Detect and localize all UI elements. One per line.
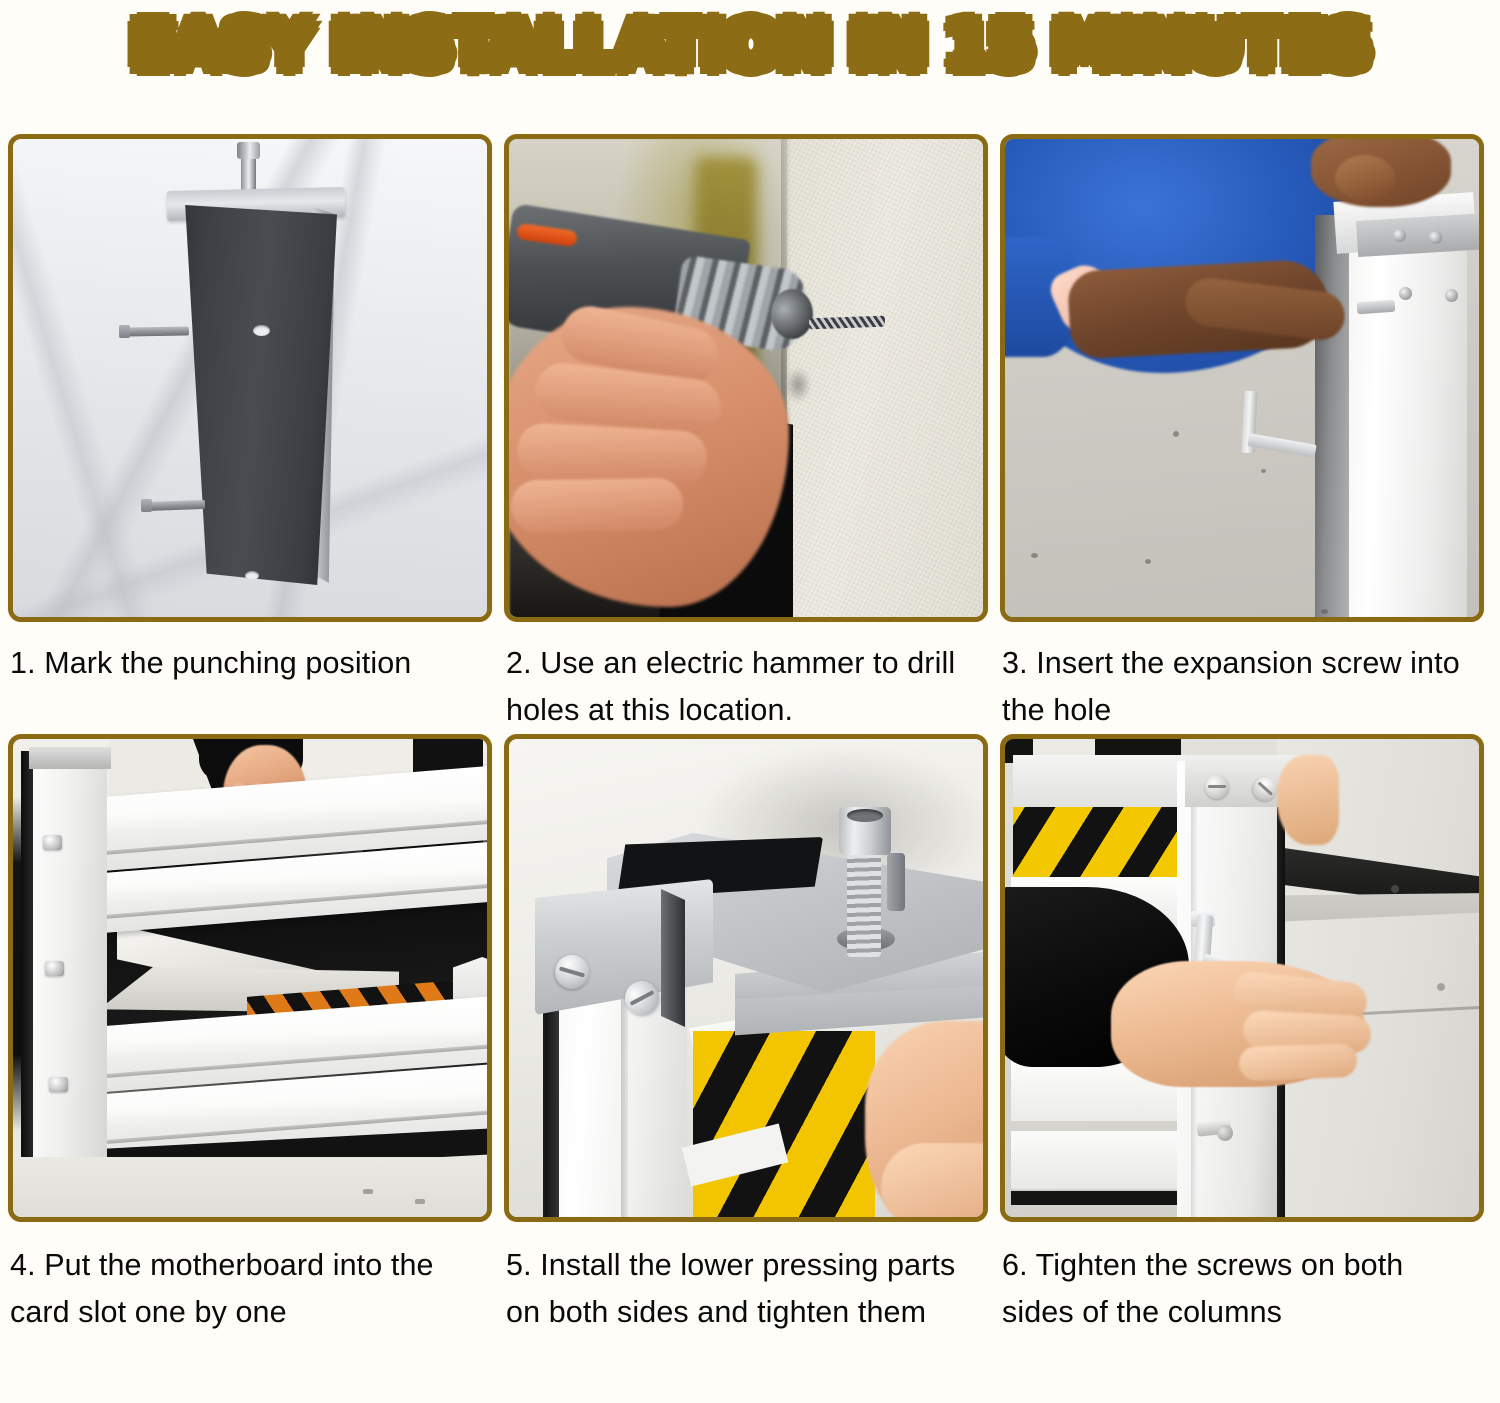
step-caption-1: 1. Mark the punching position [8,622,488,687]
step-card-5: 5. Install the lower pressing parts on b… [504,734,996,1336]
installer-fingers [881,1143,983,1217]
bracket-screw-1 [1393,229,1406,242]
column-screw-1 [43,835,62,850]
column-cap [29,747,111,769]
step-photo-5 [509,739,983,1217]
step-photo-frame-5 [504,734,988,1222]
hazard-stripe-band [693,1031,875,1217]
floor-debris-1 [1173,431,1179,437]
column-dark-edge [1315,215,1353,617]
second-hand-steadying-column [1277,755,1339,845]
floor-debris-2 [1261,469,1266,473]
bracket-screw-3 [1399,287,1412,300]
foreground-floor [13,1157,487,1217]
column-top-screw-1 [1205,775,1229,799]
hazard-stripe-band [1013,807,1185,879]
step-caption-6: 6. Tighten the screws on both sides of t… [1000,1222,1480,1336]
pressing-bracket-lip [661,889,685,1027]
bolt-side-flange-icon [887,853,905,911]
column-screw-3 [49,1077,68,1092]
step-photo-frame-6 [1000,734,1484,1222]
step-card-1: 1. Mark the punching position [8,134,500,734]
step-card-4: 4. Put the motherboard into the card slo… [8,734,500,1336]
floor-debris-3 [1031,553,1038,558]
step-photo-frame-1 [8,134,492,622]
white-board-lower [1011,1131,1189,1189]
floor-debris-4 [1145,559,1151,564]
mounting-hole-lower [245,571,259,580]
step-photo-3 [1005,139,1479,617]
step-card-3: 3. Insert the expansion screw into the h… [1000,134,1492,734]
drill-dust-puff [785,367,811,403]
panel-above-hazard [1013,755,1189,809]
bolt-tip-upper-icon [119,325,130,338]
hex-socket-opening-icon [847,809,883,822]
installation-guide-sheet: EASY INSTALLATION IN 15 MINUTES [0,0,1500,1403]
bracket-screw-4 [1445,289,1458,302]
step-photo-frame-4 [8,734,492,1222]
baseboard-fastener-2 [1437,983,1445,991]
finger-3 [1238,1043,1357,1081]
step-card-2: 2. Use an electric hammer to drill holes… [504,134,996,734]
drill-nose-icon [771,289,813,339]
step-caption-5: 5. Install the lower pressing parts on b… [504,1222,984,1336]
page-title: EASY INSTALLATION IN 15 MINUTES [131,11,1370,81]
board-bottom-edge [1011,1191,1189,1205]
column-screw-2 [45,961,64,976]
finger-4 [511,478,684,533]
finger-3 [516,422,709,486]
step-photo-6 [1005,739,1479,1217]
column-bracket-plate [1356,213,1479,257]
step-card-6: 6. Tighten the screws on both sides of t… [1000,734,1492,1336]
threaded-bolt-shaft-icon [847,845,881,957]
step-caption-2: 2. Use an electric hammer to drill holes… [504,622,984,734]
step-photo-frame-3 [1000,134,1484,622]
floor-fastener-2 [415,1199,425,1204]
baseboard-fastener-1 [1391,885,1399,893]
protruding-bolt-upper [123,326,189,336]
step-photo-4 [13,739,487,1217]
step-photo-1 [13,139,487,617]
floor-debris-5 [1321,609,1328,614]
lower-column-bolt-head [1217,1125,1233,1141]
step-photo-frame-2 [504,134,988,622]
step-photo-2 [509,139,983,617]
bolt-tip-lower-icon [141,499,152,512]
steps-grid: 1. Mark the punching position [8,134,1492,1336]
step-caption-3: 3. Insert the expansion screw into the h… [1000,622,1480,734]
top-bolt-head-icon [237,142,260,159]
mounting-hole-upper [253,325,270,336]
textured-white-wall [787,139,983,617]
worker-second-hand-thumb [1335,155,1395,201]
floor-fastener-1 [363,1189,373,1194]
title-banner: EASY INSTALLATION IN 15 MINUTES [0,0,1500,92]
step-caption-4: 4. Put the motherboard into the card slo… [8,1222,488,1336]
bracket-screw-2 [1429,231,1442,244]
